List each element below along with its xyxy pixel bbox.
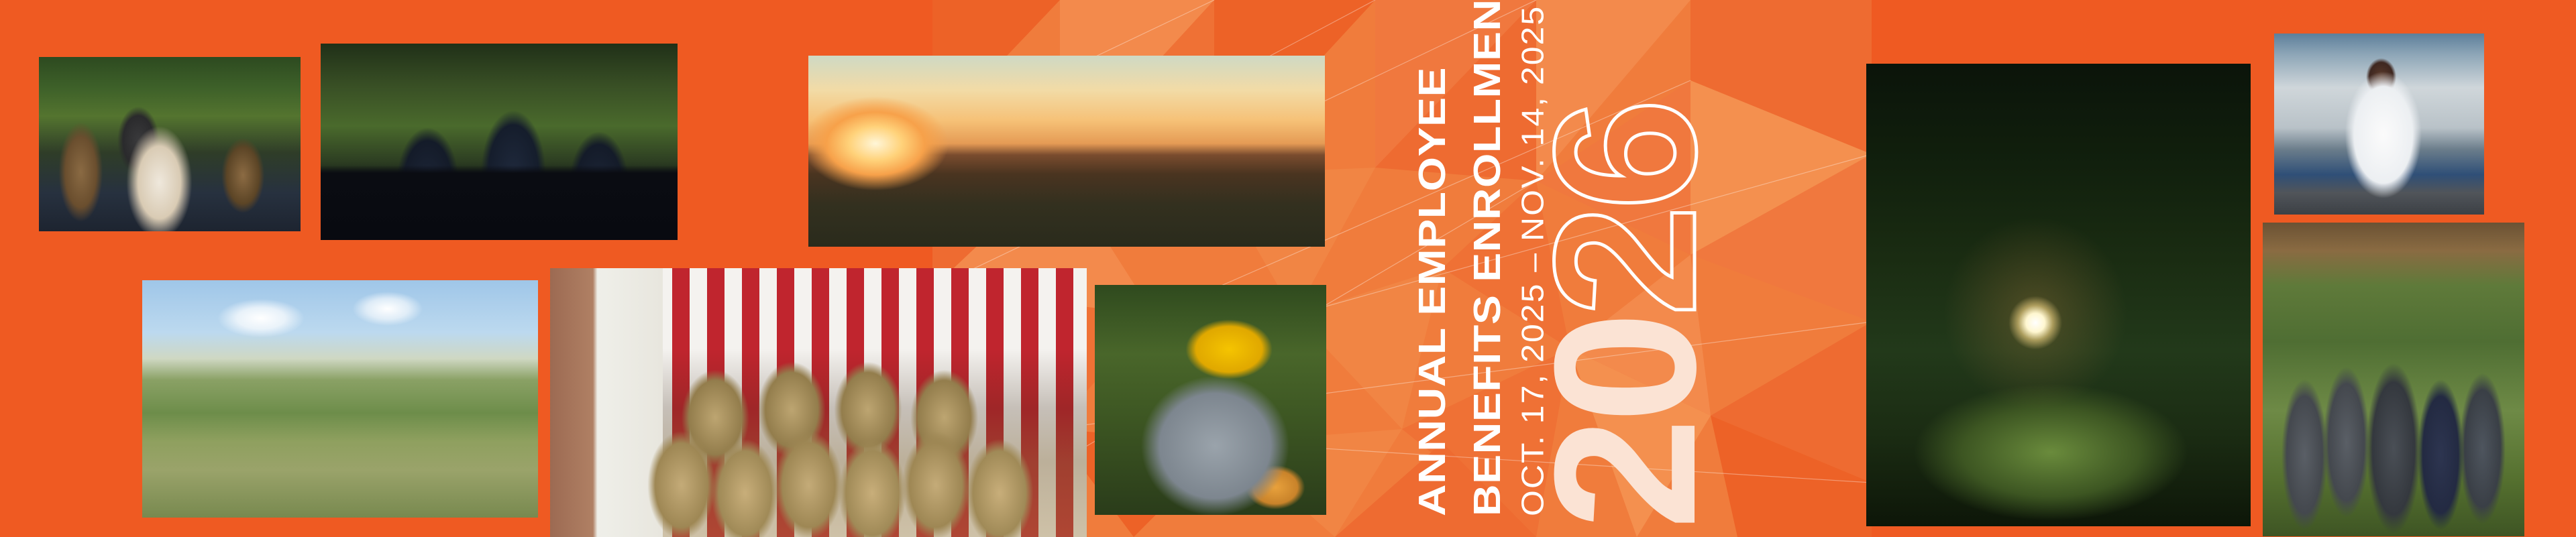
photo-aerial-city-skyline-park <box>142 280 538 518</box>
headline-line-1: ANNUAL EMPLOYEE <box>1413 67 1451 516</box>
photo-sunset-over-city <box>808 56 1325 247</box>
firefighter-crew-figures <box>631 338 1055 537</box>
year-filled-digits: 20 <box>1512 316 1737 530</box>
headline-block: ANNUAL EMPLOYEE BENEFITS ENROLLMENT OCT.… <box>1362 0 1516 537</box>
photo-firefighter-crew-with-flag <box>550 268 1087 537</box>
photo-animal-services-staff-with-dog <box>39 57 301 231</box>
photo-police-officers-with-cruiser <box>321 44 678 240</box>
year-outline-digits: 26 <box>1512 104 1737 317</box>
year-2026: 2026 <box>1524 104 1725 530</box>
photo-live-oak-canopy-sunrise <box>1866 64 2251 526</box>
year-block: 2026 <box>1495 0 1736 537</box>
benefits-enrollment-banner: ANNUAL EMPLOYEE BENEFITS ENROLLMENT OCT.… <box>0 0 2576 537</box>
photo-lab-scientist-with-glassware <box>2274 34 2484 215</box>
photo-utility-lineworker <box>1095 285 1326 515</box>
photo-volunteer-group-under-pergola <box>2263 223 2524 536</box>
